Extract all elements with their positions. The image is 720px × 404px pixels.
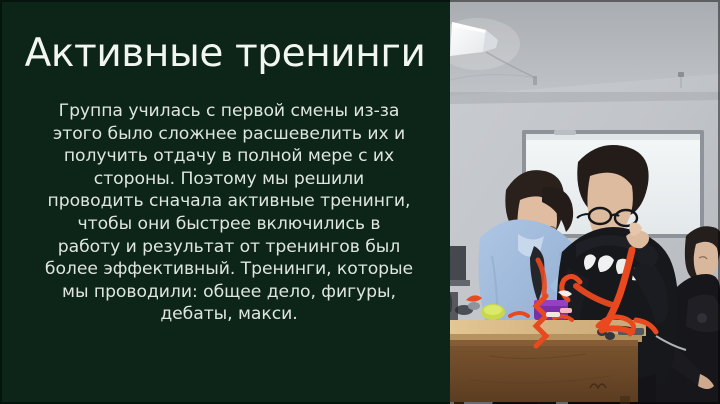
classroom-desk [450,320,646,404]
text-panel: Активные тренинги Группа училась с перво… [0,0,450,404]
slide-title: Активные тренинги [0,32,450,76]
classroom-photo [450,0,720,404]
slide-body-text: Группа училась с первой смены из-за этог… [44,100,414,326]
presentation-slide: Активные тренинги Группа училась с перво… [0,0,720,404]
classroom-photo-image [450,0,720,404]
